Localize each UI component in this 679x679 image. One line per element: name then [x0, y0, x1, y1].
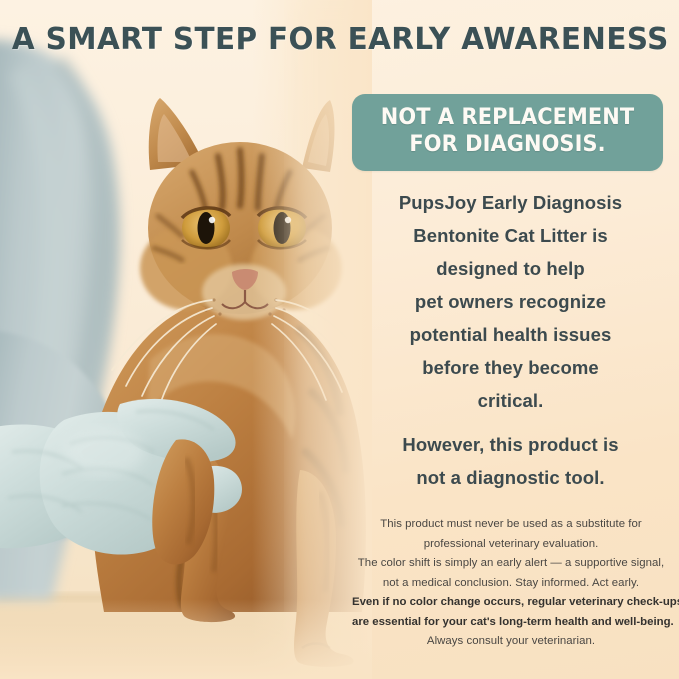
disclaimer-banner: NOT A REPLACEMENT FOR DIAGNOSIS. [352, 94, 663, 171]
veterinarian-cat-photo [0, 0, 372, 679]
body-line: critical. [358, 384, 663, 417]
banner-line-2: FOR DIAGNOSIS. [369, 132, 645, 159]
not-diagnostic-statement: However, this product is not a diagnosti… [358, 428, 663, 494]
fine-print-bold-line: Even if no color change occurs, regular … [352, 593, 670, 613]
product-description: PupsJoy Early Diagnosis Bentonite Cat Li… [358, 186, 663, 417]
fine-print-disclaimer: This product must never be used as a sub… [352, 515, 670, 652]
fine-print-bold-line: are essential for your cat's long-term h… [352, 613, 670, 633]
fine-print-line: professional veterinary evaluation. [352, 535, 670, 555]
fine-print-line: The color shift is simply an early alert… [352, 554, 670, 574]
banner-line-1: NOT A REPLACEMENT [369, 105, 645, 132]
fine-print-closing: Always consult your veterinarian. [352, 632, 670, 652]
body-line: pet owners recognize [358, 285, 663, 318]
body-line: before they become [358, 351, 663, 384]
body-line: PupsJoy Early Diagnosis [358, 186, 663, 219]
page-title: A SMART STEP FOR EARLY AWARENESS [12, 22, 667, 57]
statement-line: However, this product is [358, 428, 663, 461]
statement-line: not a diagnostic tool. [358, 461, 663, 494]
fine-print-line: This product must never be used as a sub… [352, 515, 670, 535]
body-line: designed to help [358, 252, 663, 285]
poster-canvas: A SMART STEP FOR EARLY AWARENESS NOT A R… [0, 0, 679, 679]
fine-print-line: not a medical conclusion. Stay informed.… [352, 574, 670, 594]
body-line: potential health issues [358, 318, 663, 351]
body-line: Bentonite Cat Litter is [358, 219, 663, 252]
